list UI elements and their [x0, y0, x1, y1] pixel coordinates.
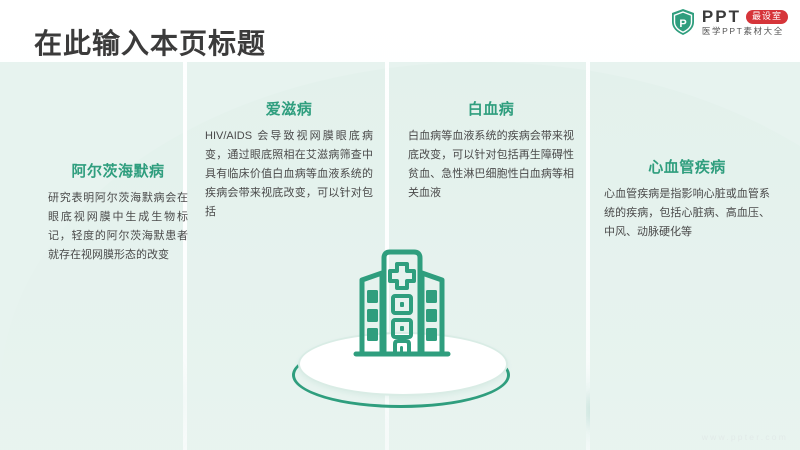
column-body: HIV/AIDS 会导致视网膜眼底病变，通过眼底照相在艾滋病筛查中具有临床价值白… — [205, 127, 373, 222]
shield-letter: P — [679, 18, 686, 30]
column-title: 爱滋病 — [205, 98, 373, 119]
hospital-building-icon — [352, 246, 452, 364]
content-column-cardiovascular: 心血管疾病 心血管疾病是指影响心脏或血管系统的疾病，包括心脏病、高血压、中风、动… — [604, 156, 770, 242]
panel-arc-fill — [590, 62, 800, 450]
content-column-aids: 爱滋病 HIV/AIDS 会导致视网膜眼底病变，通过眼底照相在艾滋病筛查中具有临… — [205, 98, 373, 222]
page-title-group: 在此输入本页标题 — [34, 22, 266, 62]
column-body: 心血管疾病是指影响心脏或血管系统的疾病，包括心脏病、高血压、中风、动脉硬化等 — [604, 185, 770, 242]
logo-subtitle: 医学PPT素材大全 — [702, 27, 788, 36]
content-column-alzheimers: 阿尔茨海默病 研究表明阿尔茨海默病会在眼底视网膜中生成生物标记，轻度的阿尔茨海默… — [48, 160, 188, 265]
panel-column-4[interactable] — [590, 62, 800, 450]
content-column-leukemia: 白血病 白血病等血液系统的疾病会带来视底改变，可以针对包括再生障碍性贫血、急性淋… — [408, 98, 574, 203]
logo-badge: 最设室 — [746, 10, 788, 24]
page-title: 在此输入本页标题 — [34, 22, 266, 62]
footer-url-watermark: www.ppter.com — [702, 432, 788, 442]
column-body: 研究表明阿尔茨海默病会在眼底视网膜中生成生物标记，轻度的阿尔茨海默患者就存在视网… — [48, 189, 188, 265]
brand-logo[interactable]: P PPT 最设室 医学PPT素材大全 — [670, 8, 788, 36]
column-title: 白血病 — [408, 98, 574, 119]
column-body: 白血病等血液系统的疾病会带来视底改变，可以针对包括再生障碍性贫血、急性淋巴细胞性… — [408, 127, 574, 203]
shield-icon: P — [670, 8, 696, 36]
logo-text-block: PPT 最设室 医学PPT素材大全 — [702, 8, 788, 36]
column-title: 心血管疾病 — [604, 156, 770, 177]
column-title: 阿尔茨海默病 — [48, 160, 188, 181]
logo-brand-text: PPT — [702, 8, 741, 25]
slide-canvas: 阿尔茨海默病 研究表明阿尔茨海默病会在眼底视网膜中生成生物标记，轻度的阿尔茨海默… — [0, 0, 800, 450]
logo-primary-row: PPT 最设室 — [702, 8, 788, 25]
